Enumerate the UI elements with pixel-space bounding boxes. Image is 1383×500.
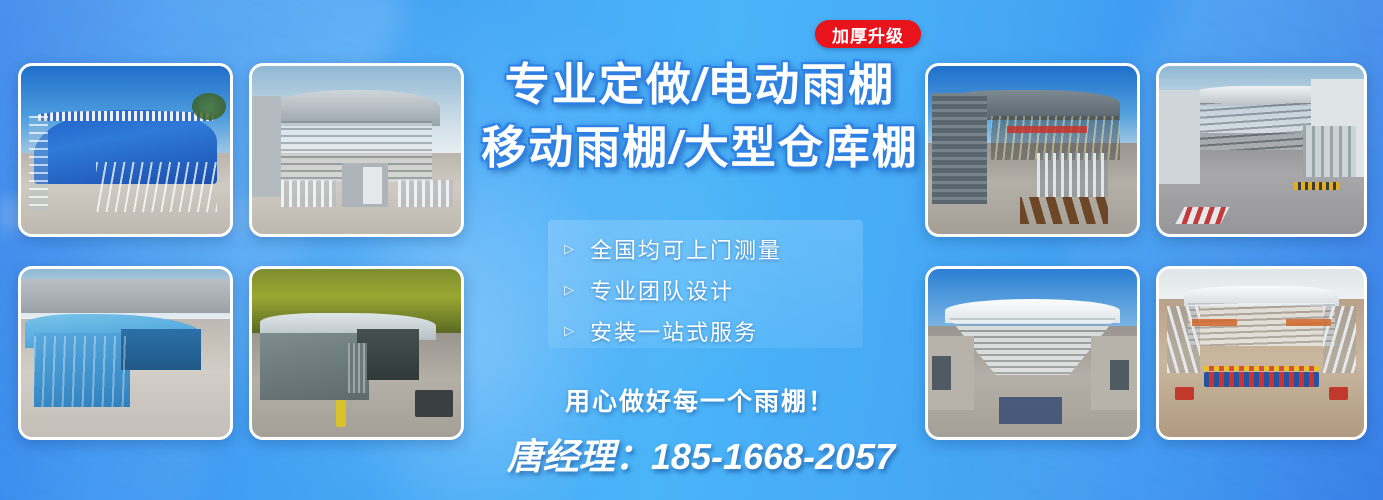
photo-tile-blue-canopy (18, 63, 233, 237)
headline-slash-1: / (693, 59, 708, 110)
upgrade-badge-label: 加厚升级 (832, 22, 904, 47)
photo-tile-white-factory-canopy (925, 266, 1140, 440)
feature-item-2: ▷ 专业团队设计 (564, 269, 894, 310)
headline-line-1: 专业定做/电动雨棚 (470, 62, 930, 107)
photo-tile-light-blue-canopy (18, 266, 233, 440)
headline-line-1-part-a: 专业定做 (505, 59, 693, 110)
headline-line-2-part-b: 大型仓库棚 (684, 122, 919, 173)
tagline: 用心做好每一个雨棚！ (470, 382, 930, 418)
photo-tile-team-photo (1156, 266, 1367, 440)
feature-item-1-label: 全国均可上门测量 (590, 233, 782, 265)
photo-tile-grey-canopy-trees (249, 266, 464, 440)
headline-line-2-part-a: 移动雨棚 (481, 122, 669, 173)
headline-line-1-part-b: 电动雨棚 (707, 59, 895, 110)
triangle-bullet-icon: ▷ (564, 324, 580, 337)
contact-phone-number[interactable]: 185-1668-2057 (651, 436, 895, 477)
feature-item-2-label: 专业团队设计 (590, 274, 734, 306)
contact-name: 唐经理 (507, 436, 615, 477)
contact-separator: ： (615, 436, 651, 477)
photo-tile-corridor-canopy (1156, 63, 1367, 237)
promo-banner: 加厚升级 专业定做/电动雨棚 移动雨棚/大型仓库棚 ▷ 全国均可上门测量 ▷ 专… (0, 0, 1383, 500)
contact-line: 唐经理：185-1668-2057 (468, 428, 934, 480)
headline-slash-2: / (669, 122, 684, 173)
feature-item-3: ▷ 安装一站式服务 (564, 310, 894, 351)
triangle-bullet-icon: ▷ (564, 242, 580, 255)
triangle-bullet-icon: ▷ (564, 283, 580, 296)
feature-item-3-label: 安装一站式服务 (590, 315, 758, 347)
photo-tile-grey-electric-canopy (925, 63, 1140, 237)
headline-line-2: 移动雨棚/大型仓库棚 (470, 125, 930, 170)
upgrade-badge: 加厚升级 (815, 20, 921, 48)
photo-tile-steel-warehouse (249, 63, 464, 237)
features-list: ▷ 全国均可上门测量 ▷ 专业团队设计 ▷ 安装一站式服务 (564, 228, 894, 351)
feature-item-1: ▷ 全国均可上门测量 (564, 228, 894, 269)
